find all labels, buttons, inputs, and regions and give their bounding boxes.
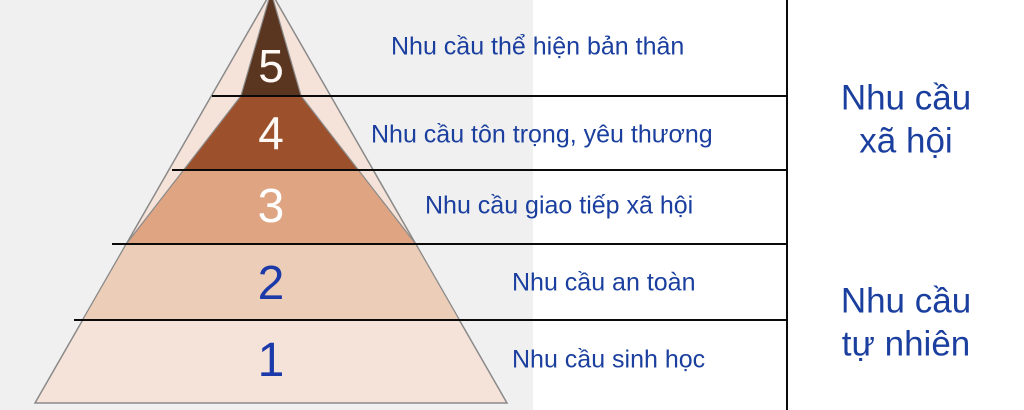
level-label-4: Nhu cầu tôn trọng, yêu thương bbox=[371, 121, 713, 150]
level-label-5: Nhu cầu thể hiện bản thân bbox=[391, 33, 684, 62]
group-label-natural: Nhu cầu tự nhiên bbox=[787, 280, 1024, 365]
level-label-2: Nhu cầu an toàn bbox=[512, 269, 695, 298]
rule-between-level-5-and-4 bbox=[212, 95, 786, 97]
pyramid-level-2 bbox=[83, 244, 460, 320]
rule-between-level-2-and-1 bbox=[74, 319, 786, 321]
rule-between-level-3-and-2 bbox=[112, 243, 786, 245]
rule-between-level-4-and-3 bbox=[172, 169, 786, 171]
diagram-canvas: 5 4 3 2 1 Nhu cầu thể hiện bản thân Nhu … bbox=[0, 0, 1024, 410]
level-label-1: Nhu cầu sinh học bbox=[512, 346, 705, 375]
group-label-social: Nhu cầu xã hội bbox=[787, 77, 1024, 162]
level-label-3: Nhu cầu giao tiếp xã hội bbox=[425, 192, 693, 221]
